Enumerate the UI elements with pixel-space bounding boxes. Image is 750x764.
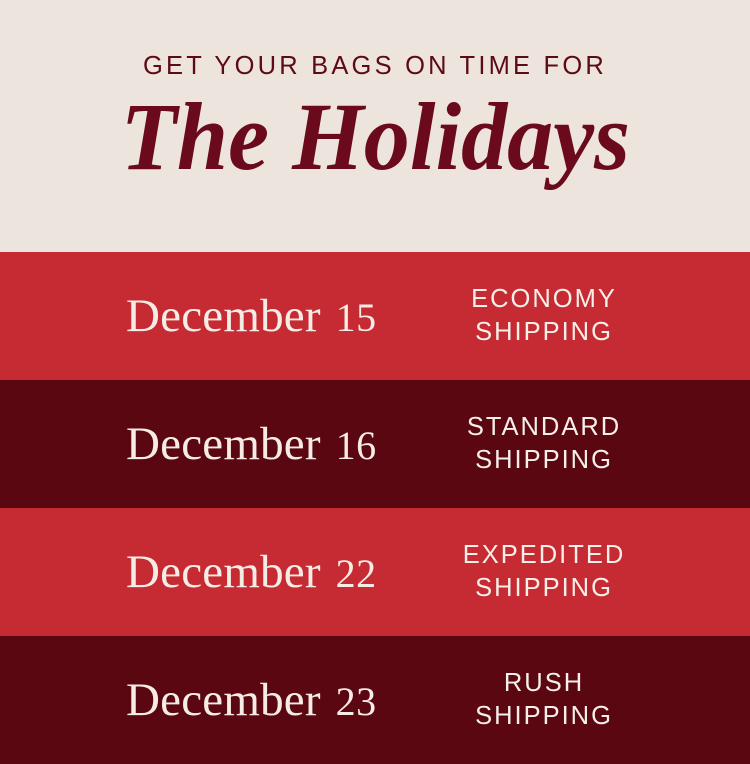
hero-kicker: GET YOUR BAGS ON TIME FOR	[143, 52, 607, 80]
shipping-date-day: 23	[333, 679, 377, 724]
shipping-service-label: RUSH SHIPPING	[454, 667, 634, 732]
shipping-service-label: ECONOMY SHIPPING	[454, 283, 634, 348]
shipping-row-rush[interactable]: December 23 RUSH SHIPPING	[0, 636, 750, 764]
shipping-service-line-1: ECONOMY	[454, 283, 634, 316]
shipping-date: December 16	[126, 421, 388, 468]
shipping-deadline-list: December 15 ECONOMY SHIPPING December 16…	[0, 252, 750, 764]
shipping-service-line-2: SHIPPING	[454, 700, 634, 733]
row-content: December 22 EXPEDITED SHIPPING	[0, 539, 750, 604]
shipping-date: December 22	[126, 549, 388, 596]
shipping-date: December 15	[126, 293, 388, 340]
shipping-date-month: December	[126, 290, 321, 342]
shipping-date-day: 22	[333, 551, 377, 596]
shipping-date-month: December	[126, 546, 321, 598]
page-title: The Holidays	[120, 88, 629, 186]
row-content: December 15 ECONOMY SHIPPING	[0, 283, 750, 348]
shipping-service-line-1: RUSH	[454, 667, 634, 700]
shipping-date: December 23	[126, 677, 388, 724]
row-content: December 16 STANDARD SHIPPING	[0, 411, 750, 476]
shipping-service-line-1: STANDARD	[454, 411, 634, 444]
shipping-row-economy[interactable]: December 15 ECONOMY SHIPPING	[0, 252, 750, 380]
hero-section: GET YOUR BAGS ON TIME FOR The Holidays	[0, 0, 750, 252]
shipping-service-line-1: EXPEDITED	[454, 539, 634, 572]
shipping-date-day: 15	[333, 295, 377, 340]
shipping-service-label: EXPEDITED SHIPPING	[454, 539, 634, 604]
shipping-service-label: STANDARD SHIPPING	[454, 411, 634, 476]
shipping-date-month: December	[126, 674, 321, 726]
shipping-service-line-2: SHIPPING	[454, 316, 634, 349]
row-content: December 23 RUSH SHIPPING	[0, 667, 750, 732]
shipping-row-standard[interactable]: December 16 STANDARD SHIPPING	[0, 380, 750, 508]
holiday-shipping-promo: GET YOUR BAGS ON TIME FOR The Holidays D…	[0, 0, 750, 764]
shipping-service-line-2: SHIPPING	[454, 444, 634, 477]
shipping-service-line-2: SHIPPING	[454, 572, 634, 605]
shipping-row-expedited[interactable]: December 22 EXPEDITED SHIPPING	[0, 508, 750, 636]
shipping-date-day: 16	[333, 423, 377, 468]
shipping-date-month: December	[126, 418, 321, 470]
